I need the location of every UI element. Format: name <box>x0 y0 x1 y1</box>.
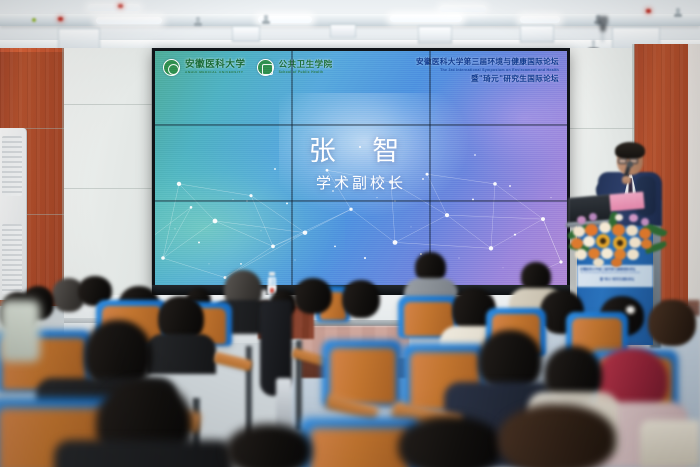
ac-grille <box>2 136 22 196</box>
wall-seam <box>64 188 153 189</box>
recessed-light-icon <box>390 15 462 22</box>
flower <box>599 222 611 233</box>
podium-banner-line3: 暨"琦元"研究生国际论坛 <box>600 277 634 281</box>
audience-head <box>648 300 696 346</box>
flower <box>627 249 639 260</box>
flower <box>577 216 586 224</box>
audience-shoulder <box>0 300 40 362</box>
sprinkler-icon <box>264 15 268 22</box>
indicator-light-icon <box>58 17 63 21</box>
audience-head <box>398 416 502 467</box>
wall-seam <box>570 128 634 129</box>
led-video-wall: 安徽医科大学 ANHUI MEDICAL UNIVERSITY 公共卫生学院 S… <box>152 48 570 290</box>
ceiling-panel <box>520 25 554 43</box>
recessed-light-icon <box>520 16 560 23</box>
flower <box>626 225 638 236</box>
pink-paper-icon <box>609 192 644 212</box>
ceiling-panel <box>418 26 452 44</box>
flower <box>629 214 638 222</box>
flower <box>639 228 651 239</box>
audience-shoulder <box>640 420 700 467</box>
flower <box>583 236 595 247</box>
sunflower-icon <box>596 234 610 248</box>
flower <box>593 258 604 267</box>
flower <box>612 224 625 236</box>
flower <box>573 226 585 237</box>
flower <box>575 249 587 260</box>
audience-head <box>342 280 380 318</box>
right-edge-wall <box>688 44 700 306</box>
security-camera-icon <box>597 16 608 25</box>
flower <box>629 237 641 248</box>
flower <box>589 213 597 221</box>
flower <box>641 218 649 226</box>
ceiling-panel <box>330 24 356 38</box>
podium-banner-line2: The 3rd International Symposium on Envir… <box>580 272 640 274</box>
audience-head <box>498 404 616 467</box>
ceiling-panel <box>58 28 100 50</box>
recessed-light-icon <box>440 5 486 12</box>
seat-back-pad <box>310 428 410 467</box>
flower <box>615 214 623 221</box>
flower <box>601 248 613 259</box>
indicator-light-icon <box>118 4 123 8</box>
speaker-hand <box>622 176 631 184</box>
sprinkler-icon <box>196 17 200 24</box>
conference-hall-photo: 安徽医科大学 ANHUI MEDICAL UNIVERSITY 公共卫生学院 S… <box>0 0 700 467</box>
coat-lining <box>276 378 292 428</box>
left-wood-wall-top <box>0 48 64 52</box>
sunflower-icon <box>613 236 627 250</box>
ceiling-panel <box>232 26 260 42</box>
ac-grille <box>2 224 22 294</box>
audience-head <box>294 278 332 314</box>
recessed-light-icon <box>88 4 140 11</box>
bottle-cap <box>269 272 275 276</box>
recessed-light-icon <box>96 17 162 24</box>
audience-head <box>226 424 312 467</box>
led-pixel-grid <box>155 51 567 287</box>
flower <box>571 238 583 249</box>
audience-torso <box>54 440 234 467</box>
hair-scrunchie-icon <box>626 306 635 314</box>
indicator-light-icon <box>32 18 36 22</box>
indicator-light-icon <box>646 9 651 13</box>
left-white-wall <box>64 48 153 310</box>
flower <box>611 258 622 267</box>
flower-arrangement-icon <box>571 212 663 270</box>
sprinkler-icon <box>676 8 680 15</box>
camera-mount <box>601 32 604 42</box>
led-wall-content: 安徽医科大学 ANHUI MEDICAL UNIVERSITY 公共卫生学院 S… <box>155 51 567 287</box>
air-conditioner-unit <box>0 128 27 300</box>
audience-torso <box>146 334 216 374</box>
speaker-hair <box>615 142 645 159</box>
flower <box>585 224 598 236</box>
wall-seam <box>64 104 153 105</box>
flower <box>641 239 652 249</box>
